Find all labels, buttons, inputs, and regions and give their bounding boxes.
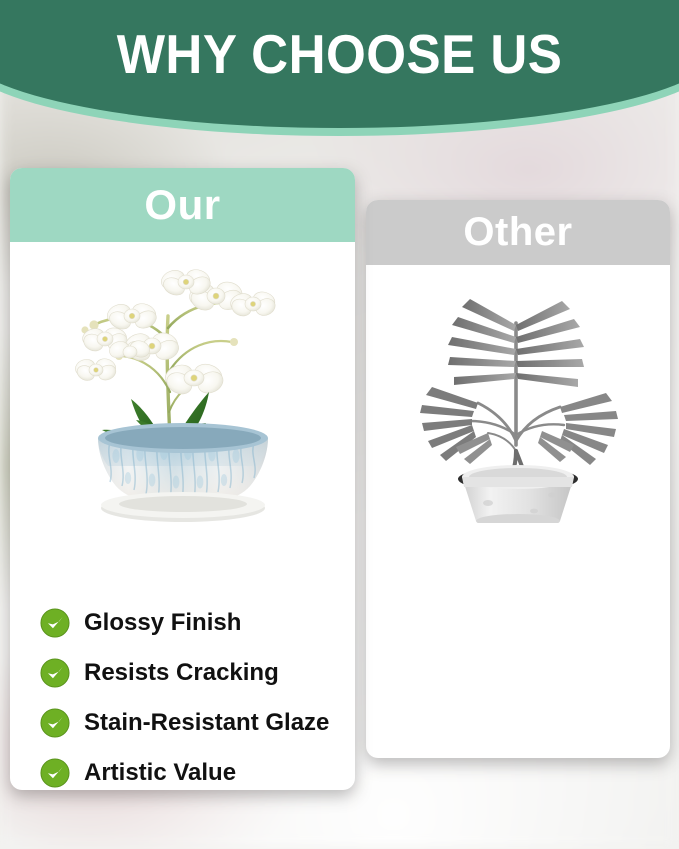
our-product-image [10, 242, 355, 524]
other-card-header-label: Other [463, 210, 572, 255]
other-card-body: Rough texture Prone to Cracking Not Dirt… [366, 265, 670, 758]
list-item: Glossy Finish [40, 598, 355, 648]
our-feature-list: Glossy Finish Resists Cracking [40, 598, 355, 790]
our-card-header-label: Our [144, 181, 220, 229]
page-title: WHY CHOOSE US [24, 22, 655, 86]
our-product-card: Our [10, 168, 355, 790]
feature-label: Stain-Resistant Glaze [84, 709, 329, 737]
feature-label: Glossy Finish [84, 609, 241, 637]
list-item: Artistic Value [40, 748, 355, 790]
feature-label: Resists Cracking [84, 659, 279, 687]
green-check-circle-icon [40, 658, 70, 688]
other-card-header: Other [366, 200, 670, 265]
feature-label: Artistic Value [84, 759, 236, 787]
list-item: Stain-Resistant Glaze [40, 698, 355, 748]
other-product-card: Other [366, 200, 670, 758]
green-check-circle-icon [40, 758, 70, 788]
our-card-header: Our [10, 168, 355, 242]
green-check-circle-icon [40, 708, 70, 738]
green-check-circle-icon [40, 608, 70, 638]
other-product-image [366, 265, 670, 523]
infographic-canvas: WHY CHOOSE US Our [0, 0, 679, 849]
our-card-body: Glossy Finish Resists Cracking [10, 242, 355, 790]
list-item: Resists Cracking [40, 648, 355, 698]
